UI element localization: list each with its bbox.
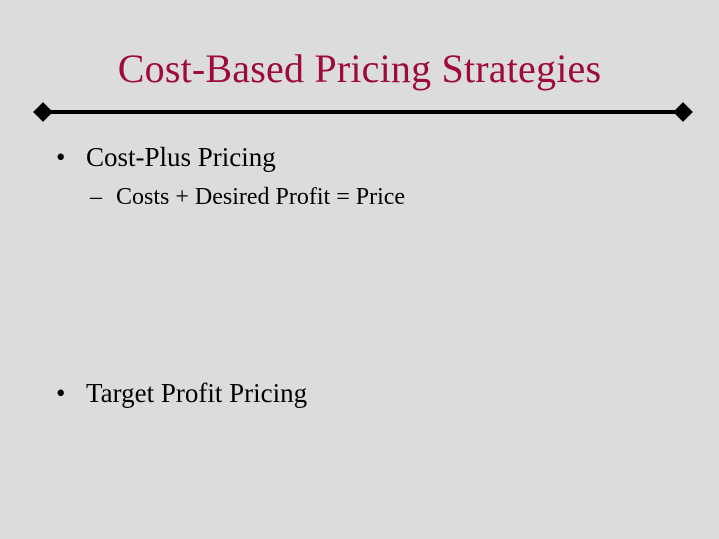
bullet-label: Cost-Plus Pricing <box>86 140 276 174</box>
slide-body: • Cost-Plus Pricing – Costs + Desired Pr… <box>0 134 719 534</box>
bullet-label: Target Profit Pricing <box>86 376 307 410</box>
bullet-item-target-profit-pricing: • Target Profit Pricing <box>56 376 307 410</box>
sub-bullet-label: Costs + Desired Profit = Price <box>116 182 405 212</box>
bullet-marker-icon: • <box>56 140 86 174</box>
divider-line <box>43 110 683 114</box>
sub-bullet-item-cost-plus-formula: – Costs + Desired Profit = Price <box>90 182 405 212</box>
slide-title: Cost-Based Pricing Strategies <box>0 45 719 93</box>
dash-marker-icon: – <box>90 182 116 212</box>
bullet-marker-icon: • <box>56 376 86 410</box>
diamond-right-icon <box>673 102 693 122</box>
title-divider <box>36 104 690 120</box>
bullet-item-cost-plus-pricing: • Cost-Plus Pricing <box>56 140 276 174</box>
presentation-slide: Cost-Based Pricing Strategies • Cost-Plu… <box>0 0 719 539</box>
